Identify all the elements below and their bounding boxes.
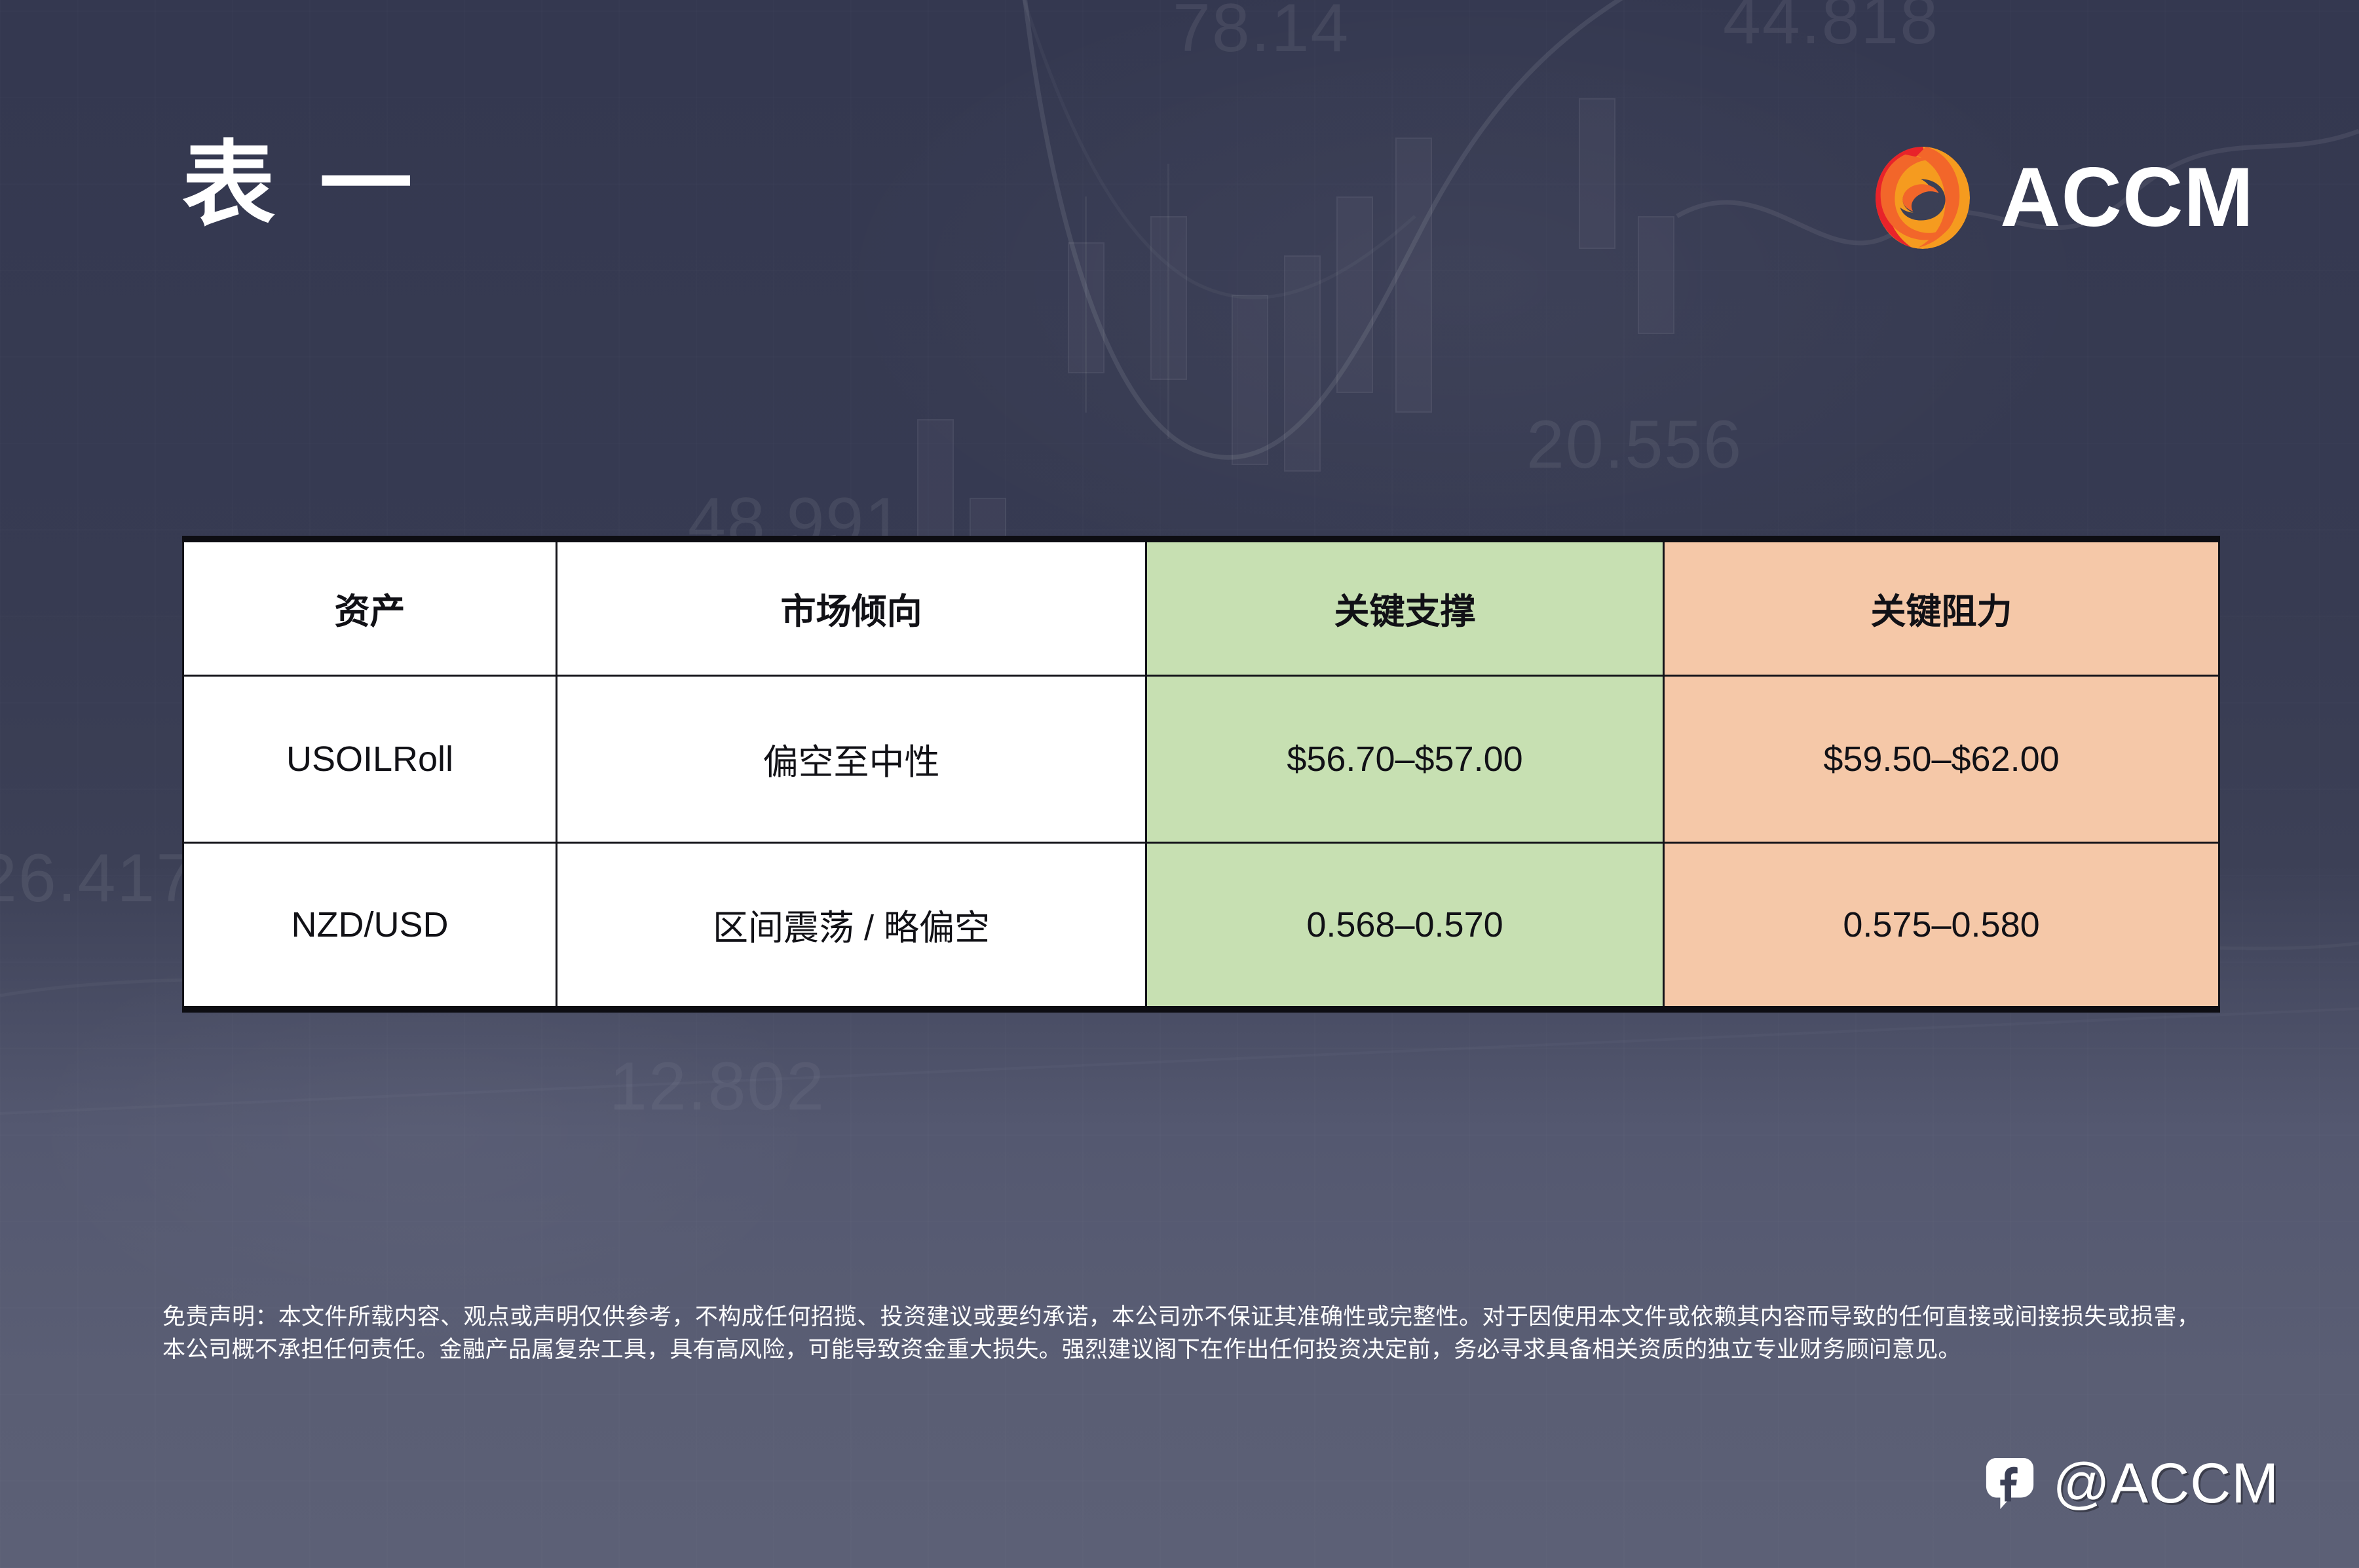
column-header-asset: 资产 — [183, 539, 557, 675]
brand-logo: ACCM — [1874, 145, 2254, 250]
cell-bias: 区间震荡 / 略偏空 — [557, 842, 1146, 1009]
table-header-row: 资产 市场倾向 关键支撑 关键阻力 — [183, 539, 2219, 675]
social-handle: @ACCM — [1984, 1455, 2279, 1512]
page-title: 表 一 — [182, 139, 421, 232]
watermark-number: 20.556 — [1526, 406, 1743, 484]
data-table-container: 资产 市场倾向 关键支撑 关键阻力 USOILRoll 偏空至中性 $56.70… — [182, 536, 2218, 1013]
table-row: USOILRoll 偏空至中性 $56.70–$57.00 $59.50–$62… — [183, 675, 2219, 842]
cell-support: 0.568–0.570 — [1146, 842, 1664, 1009]
accm-swirl-icon — [1874, 145, 1971, 250]
table-row: NZD/USD 区间震荡 / 略偏空 0.568–0.570 0.575–0.5… — [183, 842, 2219, 1009]
social-handle-text: @ACCM — [2052, 1455, 2279, 1512]
cell-resistance: 0.575–0.580 — [1664, 842, 2219, 1009]
market-levels-table: 资产 市场倾向 关键支撑 关键阻力 USOILRoll 偏空至中性 $56.70… — [182, 536, 2220, 1013]
cell-asset: NZD/USD — [183, 842, 557, 1009]
watermark-number: 78.14 — [1173, 0, 1349, 67]
column-header-resistance: 关键阻力 — [1664, 539, 2219, 675]
cell-resistance: $59.50–$62.00 — [1664, 675, 2219, 842]
disclaimer-text: 免责声明：本文件所载内容、观点或声明仅供参考，不构成任何招揽、投资建议或要约承诺… — [162, 1301, 2200, 1366]
column-header-support: 关键支撑 — [1146, 539, 1664, 675]
cell-bias: 偏空至中性 — [557, 675, 1146, 842]
watermark-number: 44.818 — [1723, 0, 1939, 60]
cell-asset: USOILRoll — [183, 675, 557, 842]
watermark-number: 12.802 — [609, 1048, 825, 1126]
brand-wordmark: ACCM — [2000, 156, 2254, 240]
column-header-bias: 市场倾向 — [557, 539, 1146, 675]
facebook-icon — [1984, 1457, 2035, 1510]
watermark-number: 26.417 — [0, 840, 195, 918]
cell-support: $56.70–$57.00 — [1146, 675, 1664, 842]
